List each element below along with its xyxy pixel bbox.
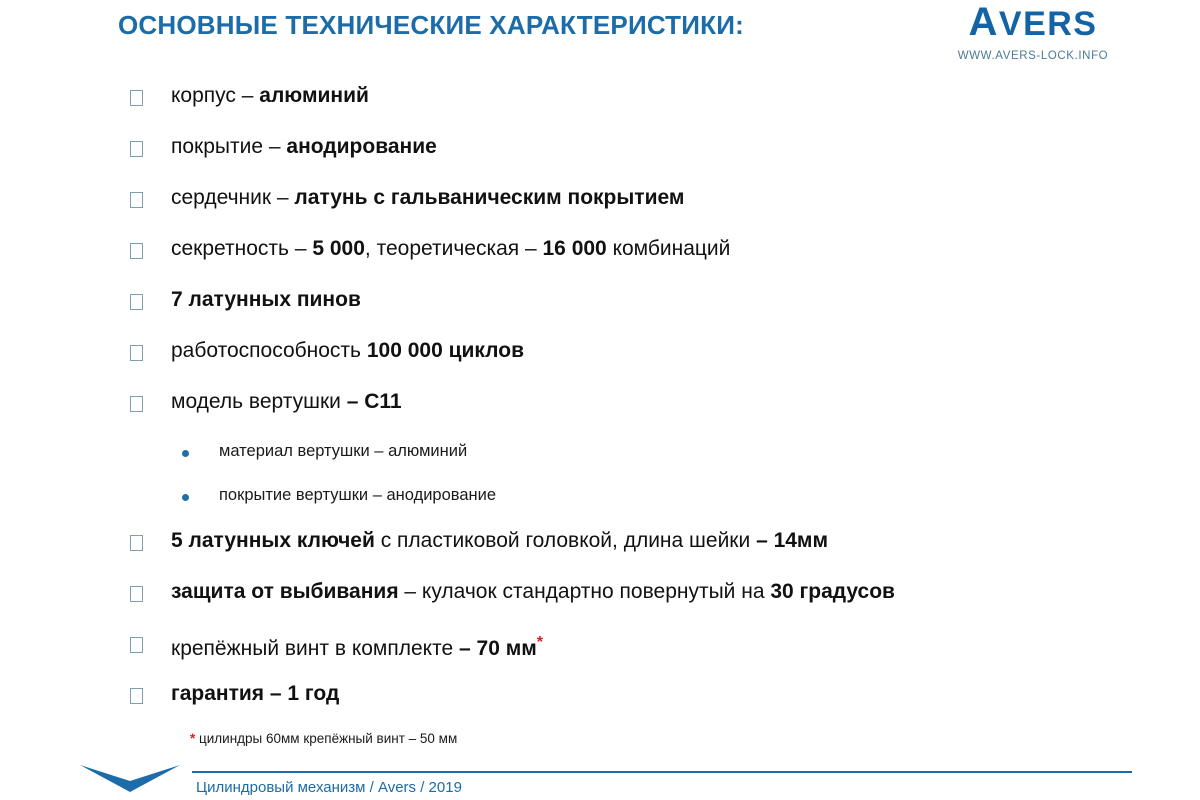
square-bullet-icon bbox=[130, 90, 143, 106]
list-item-label: материал вертушки – алюминий bbox=[189, 441, 467, 461]
list-item-text-segment: 7 латунных пинов bbox=[171, 288, 361, 311]
list-item-text-segment: комбинаций bbox=[607, 237, 731, 260]
checkmark-icon bbox=[78, 762, 182, 796]
list-item: 5 латунных ключей с пластиковой головкой… bbox=[130, 529, 1130, 580]
list-item-sub: материал вертушки – алюминий bbox=[130, 441, 1130, 485]
list-item: корпус – алюминий bbox=[130, 84, 1130, 135]
list-item: защита от выбивания – кулачок стандартно… bbox=[130, 580, 1130, 631]
list-item-text-segment: – кулачок стандартно повернутый на bbox=[399, 580, 771, 603]
square-bullet-icon bbox=[130, 637, 143, 653]
list-item-text-segment: гарантия – 1 год bbox=[171, 682, 339, 705]
list-item-label: покрытие вертушки – анодирование bbox=[189, 485, 496, 505]
list-item-text-segment: , теоретическая – bbox=[365, 237, 543, 260]
footer-caption: Цилиндровый механизм / Avers / 2019 bbox=[196, 779, 462, 796]
list-item-text-segment: – C11 bbox=[347, 390, 402, 413]
square-bullet-icon bbox=[130, 243, 143, 259]
specifications-list: корпус – алюминийпокрытие – анодирование… bbox=[130, 84, 1130, 733]
list-item-label: покрытие – анодирование bbox=[143, 135, 437, 159]
list-item-text-segment: защита от выбивания bbox=[171, 580, 399, 603]
list-item-label: работоспособность 100 000 циклов bbox=[143, 339, 524, 363]
list-item-text-segment: покрытие – bbox=[171, 135, 286, 158]
list-item-label: гарантия – 1 год bbox=[143, 682, 339, 706]
square-bullet-icon bbox=[130, 192, 143, 208]
list-item-label: защита от выбивания – кулачок стандартно… bbox=[143, 580, 895, 604]
list-item-text-segment: 16 000 bbox=[543, 237, 607, 260]
logo-wordmark: AVERS bbox=[928, 2, 1138, 42]
footnote-text: цилиндры 60мм крепёжный винт – 50 мм bbox=[195, 731, 457, 746]
list-item-text-segment: латунь с гальваническим покрытием bbox=[294, 186, 684, 209]
square-bullet-icon bbox=[130, 141, 143, 157]
footnote: * цилиндры 60мм крепёжный винт – 50 мм bbox=[190, 731, 457, 746]
asterisk-marker-icon: * bbox=[537, 634, 543, 651]
footer-divider bbox=[192, 771, 1132, 773]
list-item-text-segment: покрытие вертушки – анодирование bbox=[219, 486, 496, 504]
square-bullet-icon bbox=[130, 535, 143, 551]
list-item-text-segment: сердечник – bbox=[171, 186, 294, 209]
list-item-label: сердечник – латунь с гальваническим покр… bbox=[143, 186, 684, 210]
list-item-text-segment: анодирование bbox=[286, 135, 436, 158]
brand-logo: AVERS WWW.AVERS-LOCK.INFO bbox=[928, 2, 1138, 62]
logo-lead-letter: A bbox=[969, 0, 999, 44]
list-item: покрытие – анодирование bbox=[130, 135, 1130, 186]
list-item-text-segment: модель вертушки bbox=[171, 390, 347, 413]
list-item-label: 5 латунных ключей с пластиковой головкой… bbox=[143, 529, 828, 553]
list-item-text-segment: 5 латунных ключей bbox=[171, 529, 375, 552]
list-item: работоспособность 100 000 циклов bbox=[130, 339, 1130, 390]
dot-bullet-icon bbox=[182, 450, 189, 457]
dot-bullet-icon bbox=[182, 494, 189, 501]
logo-rest-letters: VERS bbox=[999, 5, 1098, 43]
list-item-text-segment: 30 градусов bbox=[770, 580, 895, 603]
list-item-text-segment: – 70 мм bbox=[459, 637, 537, 660]
list-item: крепёжный винт в комплекте – 70 мм* bbox=[130, 631, 1130, 682]
list-item-label: модель вертушки – C11 bbox=[143, 390, 402, 414]
list-item: модель вертушки – C11 bbox=[130, 390, 1130, 441]
list-item-text-segment: с пластиковой головкой, длина шейки bbox=[375, 529, 756, 552]
list-item: секретность – 5 000, теоретическая – 16 … bbox=[130, 237, 1130, 288]
list-item: гарантия – 1 год bbox=[130, 682, 1130, 733]
logo-website-url: WWW.AVERS-LOCK.INFO bbox=[928, 50, 1138, 62]
square-bullet-icon bbox=[130, 294, 143, 310]
list-item-text-segment: материал вертушки – алюминий bbox=[219, 442, 467, 460]
list-item-label: секретность – 5 000, теоретическая – 16 … bbox=[143, 237, 730, 261]
page-title: ОСНОВНЫЕ ТЕХНИЧЕСКИЕ ХАРАКТЕРИСТИКИ: bbox=[118, 10, 744, 41]
list-item-label: 7 латунных пинов bbox=[143, 288, 361, 312]
list-item-text-segment: работоспособность bbox=[171, 339, 367, 362]
square-bullet-icon bbox=[130, 396, 143, 412]
list-item-text-segment: – 14мм bbox=[756, 529, 828, 552]
list-item-text-segment: секретность – bbox=[171, 237, 312, 260]
square-bullet-icon bbox=[130, 345, 143, 361]
list-item: 7 латунных пинов bbox=[130, 288, 1130, 339]
list-item-text-segment: 100 000 циклов bbox=[367, 339, 524, 362]
list-item-text-segment: 5 000 bbox=[312, 237, 365, 260]
list-item-text-segment: алюминий bbox=[259, 84, 369, 107]
list-item-label: крепёжный винт в комплекте – 70 мм* bbox=[143, 631, 543, 661]
list-item-label: корпус – алюминий bbox=[143, 84, 369, 108]
square-bullet-icon bbox=[130, 688, 143, 704]
list-item-text-segment: крепёжный винт в комплекте bbox=[171, 637, 459, 660]
list-item-sub: покрытие вертушки – анодирование bbox=[130, 485, 1130, 529]
square-bullet-icon bbox=[130, 586, 143, 602]
list-item: сердечник – латунь с гальваническим покр… bbox=[130, 186, 1130, 237]
list-item-text-segment: корпус – bbox=[171, 84, 259, 107]
